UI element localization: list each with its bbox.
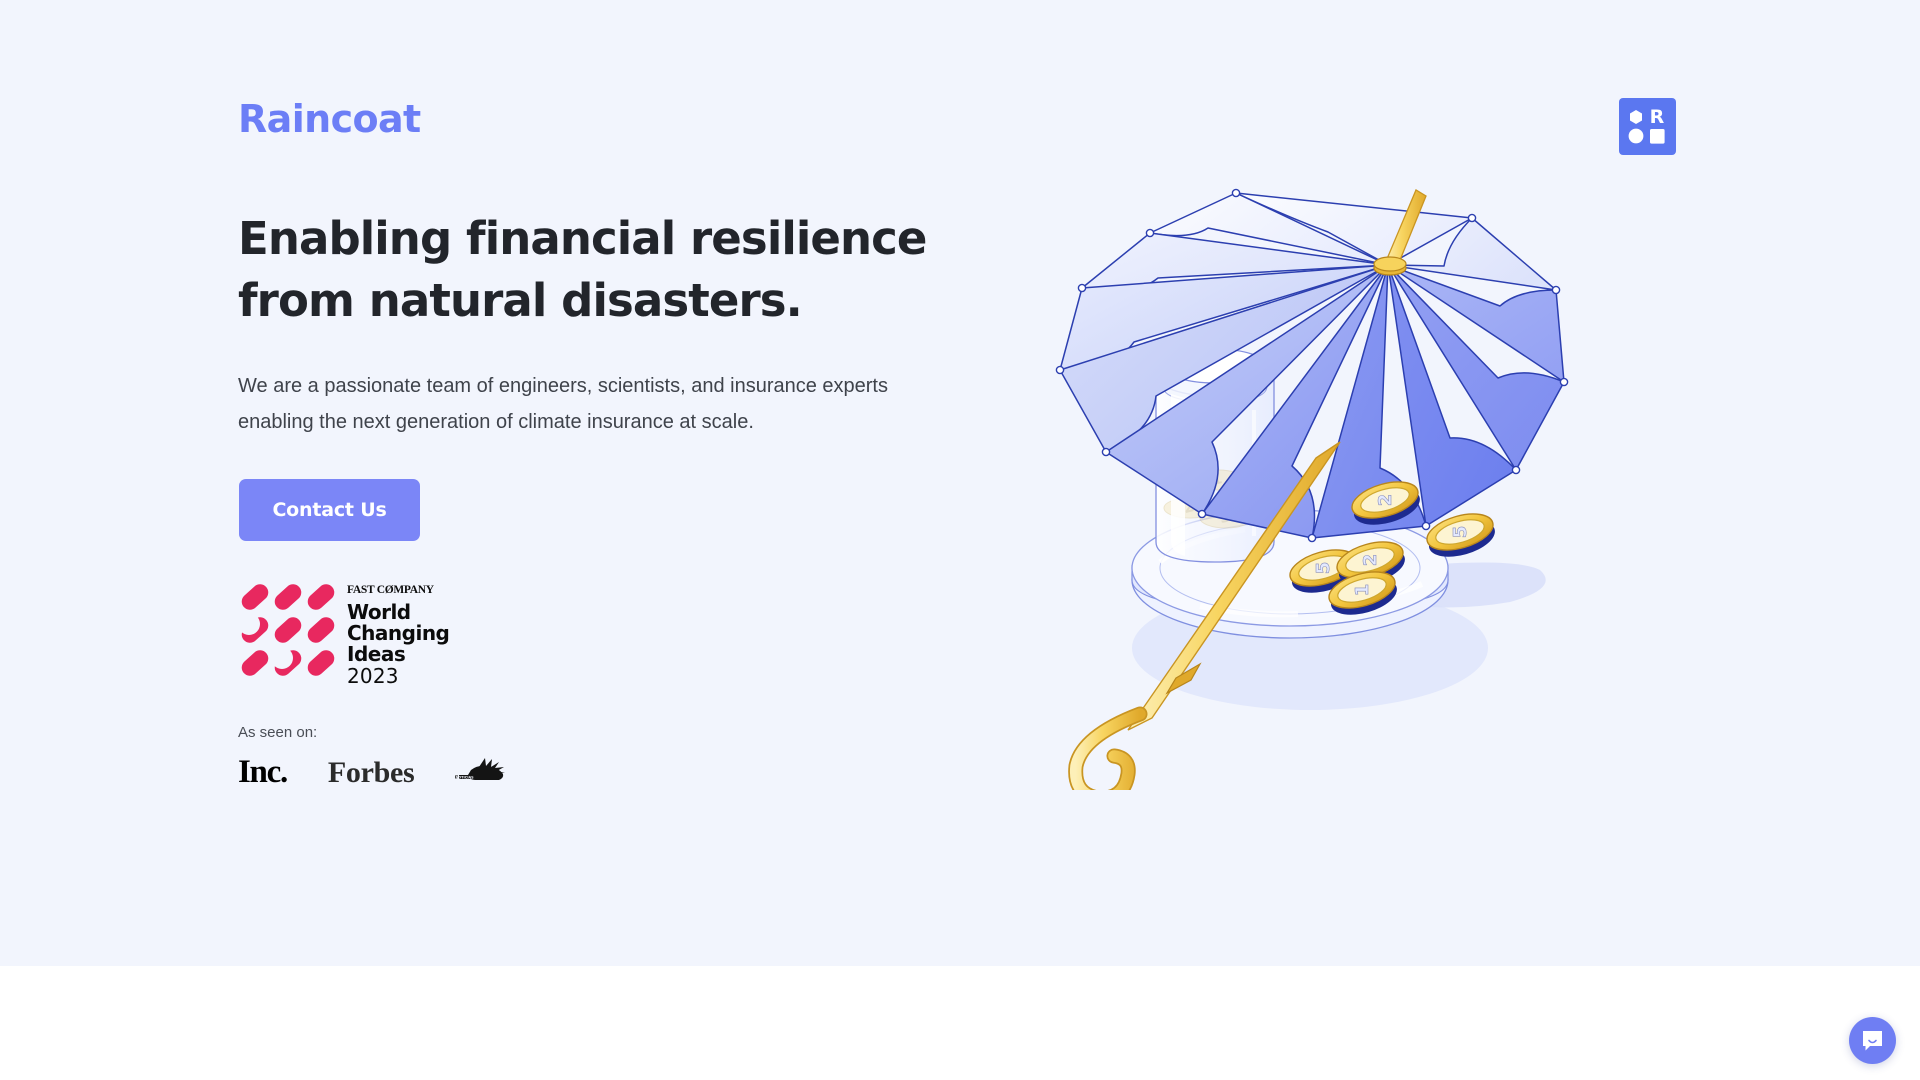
award-line-3: Ideas (347, 644, 449, 665)
svg-text:1: 1 (1352, 584, 1373, 597)
award-publisher: FAST CØMPANY (347, 585, 449, 597)
svg-text:R: R (1650, 106, 1665, 128)
umbrella-over-coin-jar-illustration: 1 2 5 (1040, 170, 1600, 790)
raincoat-shapes-badge-icon[interactable]: R (1619, 98, 1676, 155)
svg-text:2: 2 (1375, 494, 1396, 507)
hero-description: We are a passionate team of engineers, s… (238, 368, 938, 440)
press-logo-news-outlet-icon[interactable]: NOTICIAS (455, 756, 507, 786)
brand-logo[interactable]: Raincoat (238, 100, 421, 138)
press-logo-forbes[interactable]: Forbes (328, 758, 415, 788)
chat-bubble-icon (1861, 1029, 1884, 1052)
press-mentions: As seen on: Inc. Forbes NOTICIAS (238, 725, 507, 787)
press-label: As seen on: (238, 725, 507, 740)
svg-text:5: 5 (1450, 526, 1471, 539)
award-text-block: FAST CØMPANY World Changing Ideas 2023 (347, 580, 449, 688)
contact-us-button[interactable]: Contact Us (239, 479, 420, 541)
page-root: Raincoat R Enabling financial resilience… (0, 0, 1920, 1080)
svg-text:5: 5 (1313, 562, 1334, 575)
award-year: 2023 (347, 665, 449, 688)
svg-text:2: 2 (1360, 554, 1381, 567)
svg-text:NOTICIAS: NOTICIAS (456, 775, 475, 779)
page-title: Enabling financial resilience from natur… (238, 208, 958, 332)
hero-section: Raincoat R Enabling financial resilience… (0, 0, 1920, 966)
press-logo-row: Inc. Forbes NOTICIAS (238, 753, 507, 787)
press-logo-inc[interactable]: Inc. (238, 756, 287, 789)
award-line-1: World (347, 602, 449, 623)
world-changing-ideas-mark-icon (238, 580, 338, 680)
award-line-2: Changing (347, 623, 449, 644)
chat-launcher-button[interactable] (1849, 1017, 1896, 1064)
fast-company-award-badge[interactable]: FAST CØMPANY World Changing Ideas 2023 (238, 580, 449, 688)
